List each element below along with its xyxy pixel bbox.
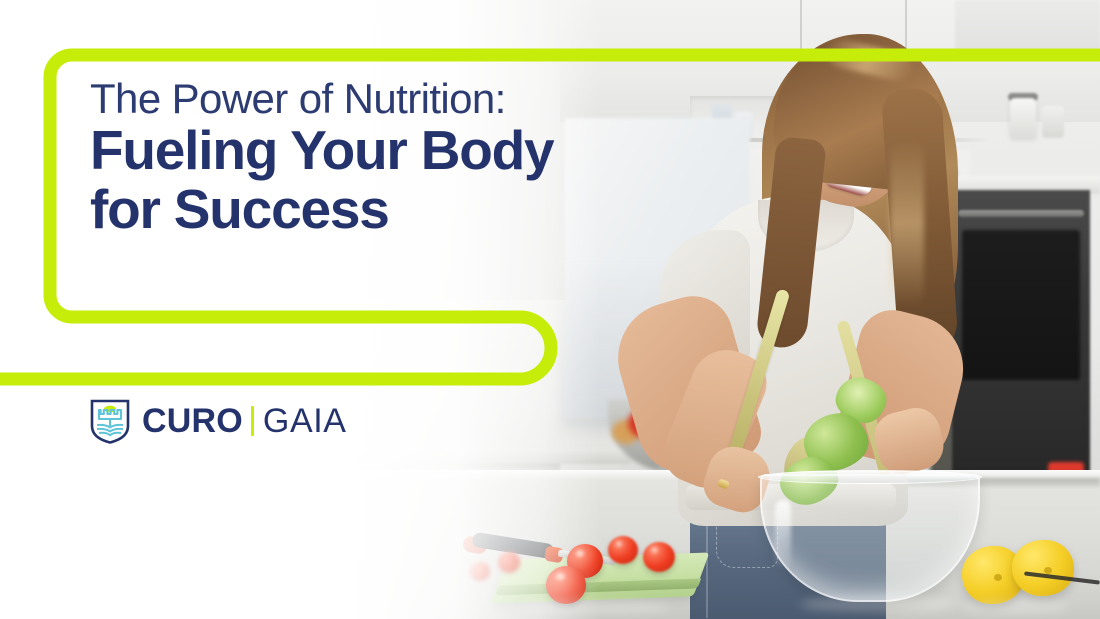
counter-canister — [1010, 98, 1036, 138]
counter-canister — [1042, 106, 1064, 138]
lemon-navel — [1044, 567, 1052, 574]
logo-curo-text: CURO — [142, 402, 243, 441]
shield-crest-icon — [90, 398, 130, 444]
logo-divider — [251, 406, 254, 436]
tomato-highlight — [651, 547, 658, 553]
back-wall-lower — [0, 300, 620, 470]
tomato-highlight — [616, 541, 623, 547]
headline-line-2: Fueling Your Body — [90, 123, 730, 178]
brand-logo[interactable]: CURO GAIA — [90, 398, 347, 444]
counter-reflection — [960, 600, 1070, 614]
tomato-highlight — [576, 550, 584, 557]
logo-wordmark: CURO GAIA — [142, 402, 347, 441]
tomato-highlight — [556, 573, 565, 581]
backsplash — [330, 448, 630, 464]
logo-gaia-text: GAIA — [263, 402, 347, 441]
counter-reflection — [800, 596, 960, 612]
headline-line-1: The Power of Nutrition: — [90, 78, 730, 120]
nutrition-hero-banner: The Power of Nutrition: Fueling Your Bod… — [0, 0, 1100, 619]
cherry-tomato — [498, 552, 520, 573]
lemon — [1012, 540, 1074, 596]
headline-block: The Power of Nutrition: Fueling Your Bod… — [90, 78, 730, 237]
headline-line-3: for Success — [90, 182, 730, 237]
cherry-tomato — [608, 536, 638, 564]
counter-reflection — [520, 600, 670, 614]
hair-highlight — [890, 138, 924, 308]
lemon-navel — [994, 574, 1002, 581]
bowl-rim — [758, 470, 982, 484]
jeans-seam — [706, 518, 708, 618]
cherry-tomato — [643, 542, 675, 572]
bowl-highlight — [775, 500, 791, 570]
cherry-tomato — [470, 562, 490, 581]
cherry-tomato — [546, 566, 586, 604]
